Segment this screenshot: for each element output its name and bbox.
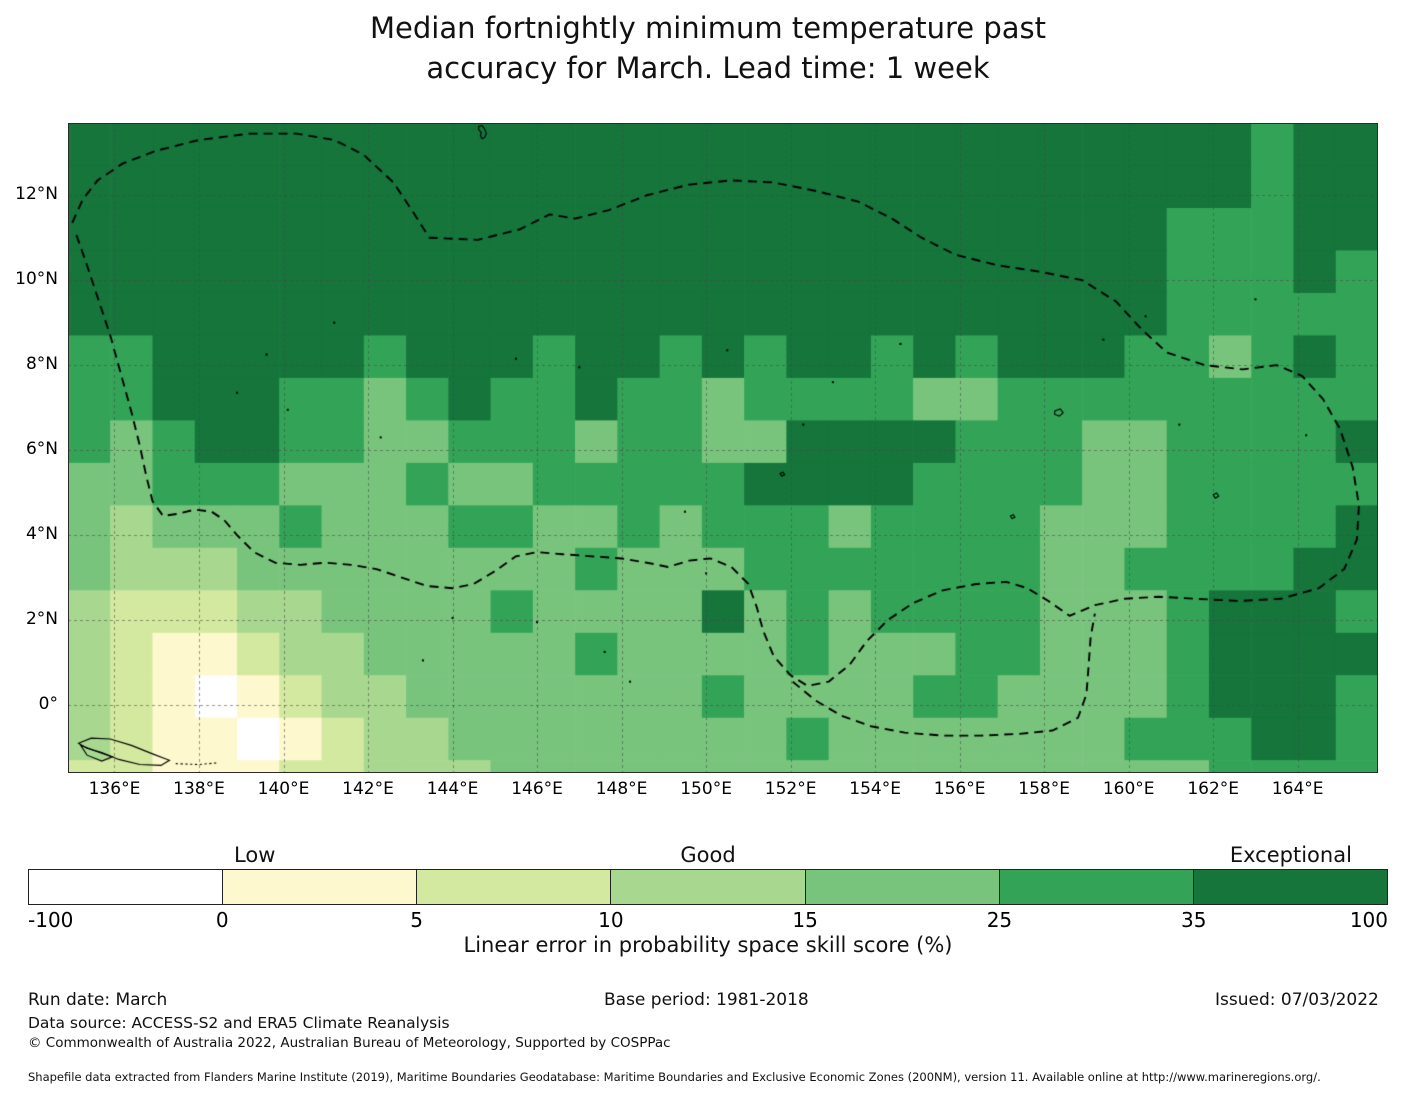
skill-score-map (68, 123, 1378, 773)
footer-copyright: © Commonwealth of Australia 2022, Austra… (28, 1035, 671, 1051)
colorbar-tick-label: -100 (28, 908, 73, 932)
colorbar-tick-label: 5 (410, 908, 423, 932)
colorbar-tick-label: 15 (792, 908, 817, 932)
x-axis-tick-label: 142°E (342, 779, 394, 799)
map-raster-canvas (68, 123, 1378, 773)
x-axis-tick-label: 164°E (1272, 779, 1324, 799)
page-title: Median fortnightly minimum temperature p… (0, 8, 1416, 88)
colorbar-category-label: Low (234, 843, 275, 867)
x-axis-tick-label: 162°E (1187, 779, 1239, 799)
colorbar-tick-label: 10 (598, 908, 623, 932)
colorbar-tick-label: 0 (216, 908, 229, 932)
x-axis-tick-label: 140°E (258, 779, 310, 799)
colorbar-segment-6 (1194, 870, 1387, 904)
colorbar-tick-label: 100 (1350, 908, 1388, 932)
title-line-2: accuracy for March. Lead time: 1 week (0, 48, 1416, 88)
colorbar-tick-label: 25 (987, 908, 1012, 932)
colorbar-segment-5 (1000, 870, 1194, 904)
x-axis-tick-label: 144°E (427, 779, 479, 799)
x-axis-tick-label: 150°E (680, 779, 732, 799)
colorbar-segment-3 (611, 870, 805, 904)
x-axis-tick-label: 154°E (849, 779, 901, 799)
footer-base-period: Base period: 1981-2018 (604, 990, 809, 1010)
x-axis-tick-label: 138°E (173, 779, 225, 799)
footer-issued-date: Issued: 07/03/2022 (1215, 990, 1379, 1010)
colorbar-segment-1 (223, 870, 417, 904)
title-line-1: Median fortnightly minimum temperature p… (0, 8, 1416, 48)
x-axis-tick-label: 158°E (1018, 779, 1070, 799)
footer-data-source: Data source: ACCESS-S2 and ERA5 Climate … (28, 1014, 450, 1032)
colorbar-segment-4 (806, 870, 1000, 904)
x-axis-tick-label: 136°E (89, 779, 141, 799)
x-axis-tick-label: 152°E (765, 779, 817, 799)
colorbar-segment-0 (29, 870, 223, 904)
colorbar-segment-2 (417, 870, 611, 904)
colorbar-tick-label: 35 (1181, 908, 1206, 932)
colorbar-category-label: Good (680, 843, 735, 867)
footer-shapefile-attribution: Shapefile data extracted from Flanders M… (28, 1070, 1321, 1084)
colorbar (28, 869, 1388, 905)
x-axis-tick-label: 160°E (1103, 779, 1155, 799)
colorbar-title: Linear error in probability space skill … (0, 933, 1416, 957)
colorbar-segments (28, 869, 1388, 905)
x-axis-tick-label: 148°E (596, 779, 648, 799)
x-axis-tick-label: 156°E (934, 779, 986, 799)
footer-run-date: Run date: March (28, 990, 167, 1010)
colorbar-category-label: Exceptional (1230, 843, 1352, 867)
x-axis-tick-label: 146°E (511, 779, 563, 799)
